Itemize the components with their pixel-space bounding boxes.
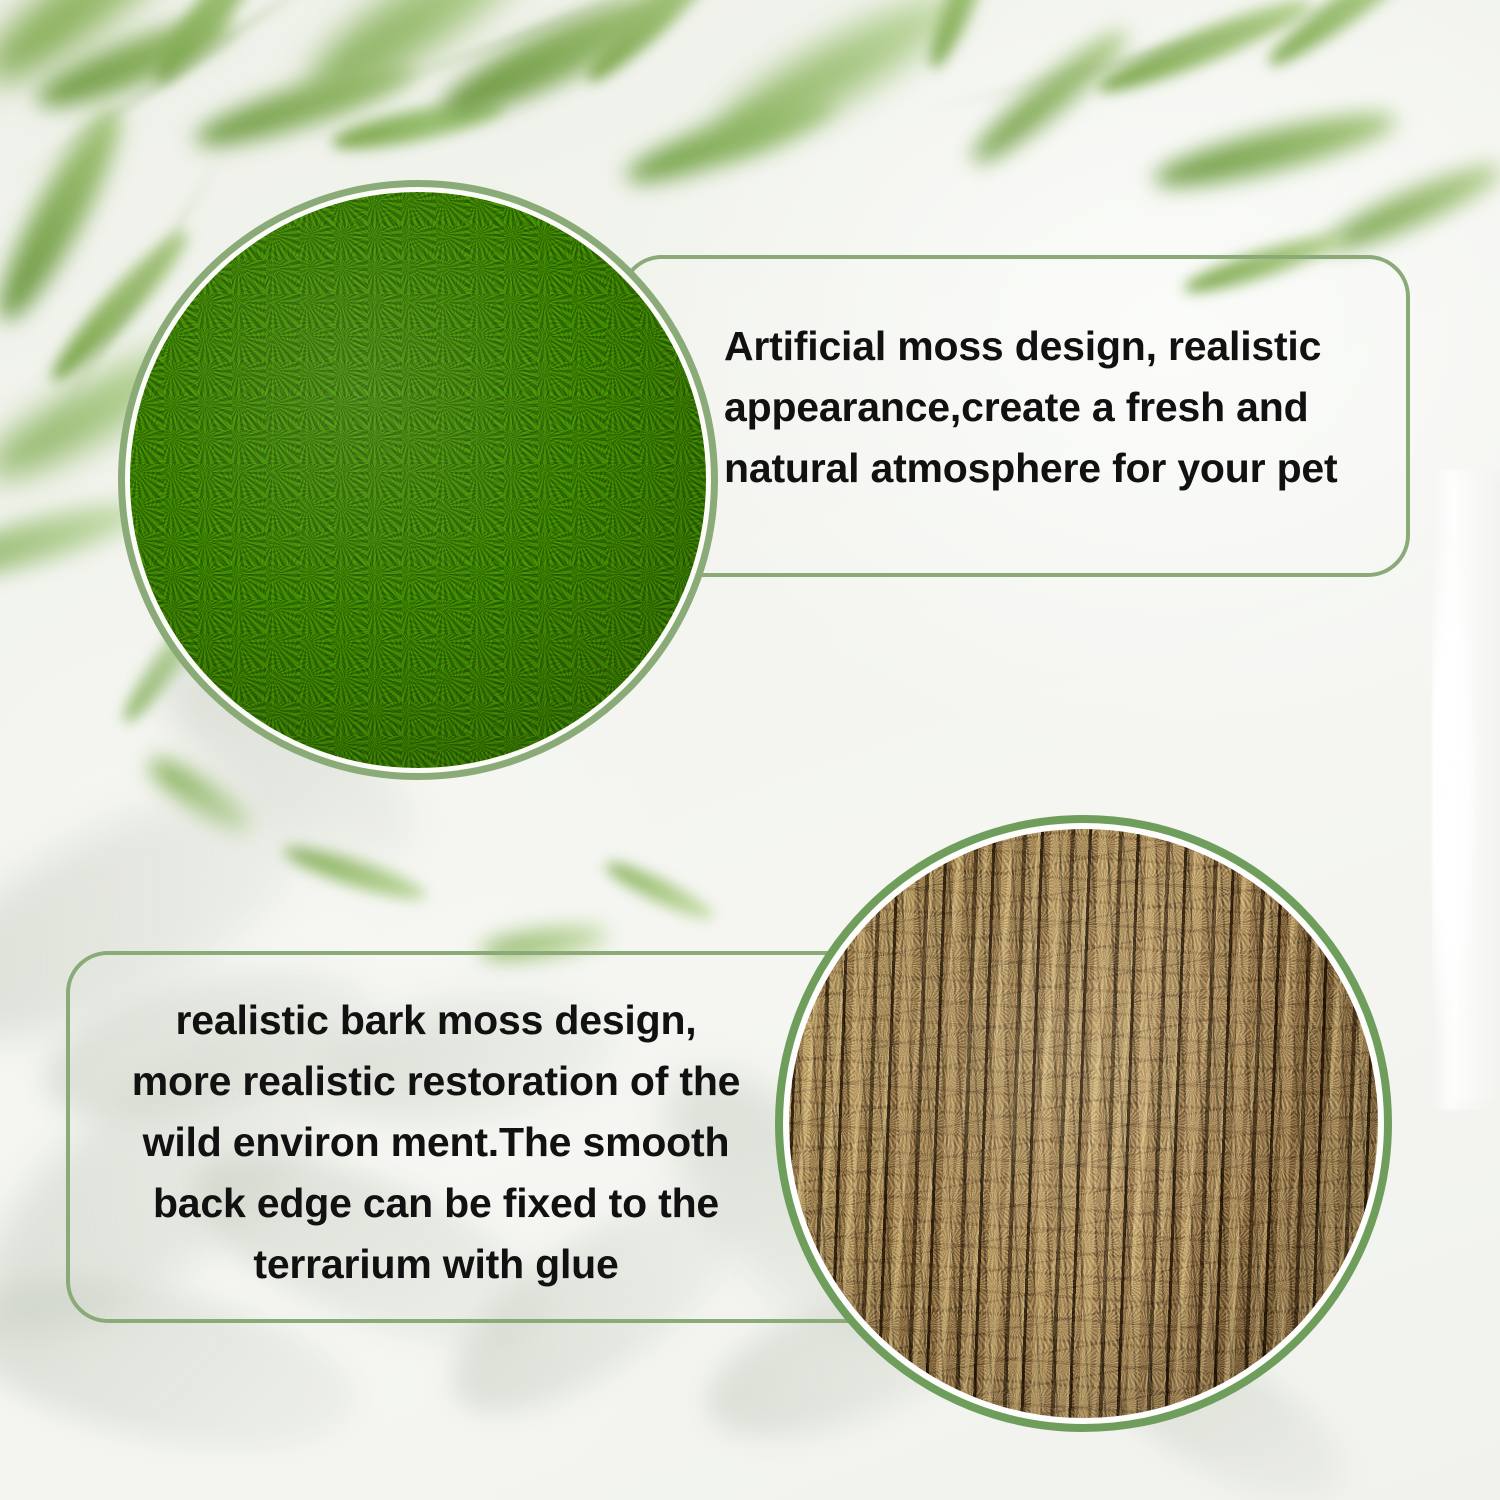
moss-texture-photo	[118, 180, 718, 780]
feature-text-moss: Artificial moss design, realistic appear…	[724, 316, 1394, 499]
bark-texture-shade	[789, 829, 1378, 1418]
moss-texture-shade	[130, 192, 706, 768]
product-feature-infographic: Artificial moss design, realistic appear…	[0, 0, 1500, 1500]
tree-bark-texture-photo	[775, 815, 1392, 1432]
white-light-band	[1432, 470, 1500, 1110]
feature-text-bark: realistic bark moss design, more realist…	[86, 990, 786, 1295]
